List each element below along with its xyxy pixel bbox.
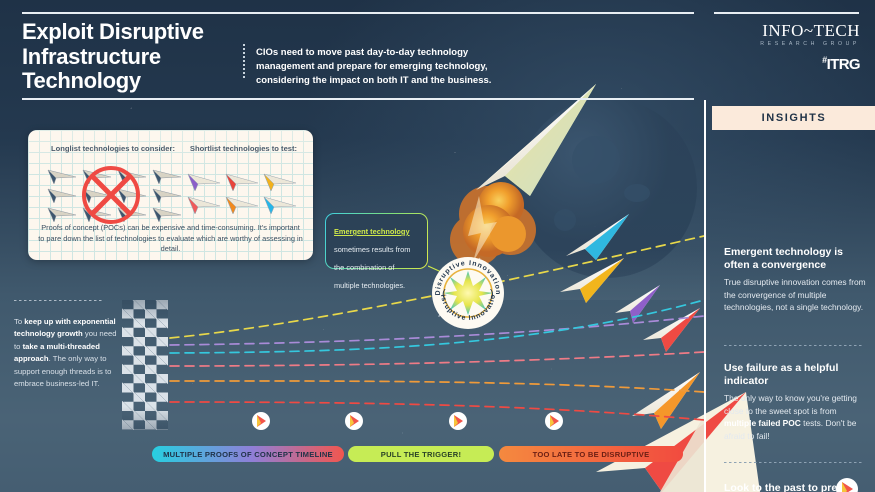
insight-heading: Use failure as a helpful indicator (724, 362, 866, 388)
logo-itrg-text: ITRG (827, 56, 860, 73)
insight-card-failure: Use failure as a helpful indicator The o… (724, 362, 866, 443)
logo-tagline: RESEARCH GROUP (714, 41, 860, 47)
logo-itrg: #ITRG (714, 55, 860, 73)
timeline-marker[interactable] (252, 412, 270, 430)
badge-bracket-right: ) (490, 288, 494, 300)
infographic-canvas: Exploit Disruptive Infrastructure Techno… (0, 0, 875, 492)
logo-wordmark: INFO~TECH (714, 22, 860, 39)
shortlist-heading: Shortlist technologies to test: (186, 144, 301, 154)
insight-card-convergence: Emergent technology is often a convergen… (724, 246, 866, 314)
insight-body-bold: multiple failed POC (724, 418, 801, 428)
insights-tab-label: INSIGHTS (762, 112, 827, 124)
insight-body-part-1: The only way to know you're getting clos… (724, 393, 857, 416)
left-note-part-1: To (14, 317, 24, 326)
shortlist-plane-grid (186, 172, 306, 218)
insight-heading: Emergent technology is often a convergen… (724, 246, 866, 272)
badge-bracket-left: ( (442, 288, 446, 300)
timeline-bar-too-late[interactable]: TOO LATE TO BE DISRUPTIVE (499, 446, 683, 462)
insight-divider (724, 462, 864, 463)
left-note-text: To keep up with exponential technology g… (14, 316, 118, 391)
paper-plane-orange (632, 372, 700, 429)
play-plane-icon (836, 478, 858, 492)
header-top-rule (22, 12, 694, 14)
left-note-divider (14, 300, 102, 301)
emergent-technology-callout: Emergent technology sometimes results fr… (325, 213, 428, 269)
timeline-bar-poc[interactable]: MULTIPLE PROOFS OF CONCEPT TIMELINE (152, 446, 344, 462)
timeline-marker[interactable] (345, 412, 363, 430)
poc-caption: Proofs of concept (POCs) can be expensiv… (38, 223, 303, 255)
insight-body: The only way to know you're getting clos… (724, 392, 866, 442)
longlist-heading: Longlist technologies to consider: (48, 144, 178, 154)
play-plane-icon (545, 412, 563, 430)
insight-divider (724, 345, 864, 346)
callout-body: sometimes results from the combination o… (334, 245, 410, 290)
insights-panel: INSIGHTS Emergent technology is often a … (704, 100, 875, 492)
timeline-bar-label: MULTIPLE PROOFS OF CONCEPT TIMELINE (163, 450, 333, 459)
checkered-flag-icon (122, 300, 168, 430)
timeline-bar-trigger[interactable]: PULL THE TRIGGER! (348, 446, 494, 462)
poc-note-panel: Longlist technologies to consider: Short… (28, 130, 313, 260)
timeline-marker[interactable] (449, 412, 467, 430)
brand-logo: INFO~TECH RESEARCH GROUP #ITRG (714, 22, 860, 73)
longlist-plane-grid (46, 168, 186, 224)
timeline-bar-label: PULL THE TRIGGER! (381, 450, 461, 459)
play-plane-icon (449, 412, 467, 430)
header-divider (243, 44, 245, 80)
disruptive-innovation-badge: Disruptive Innovation Disruptive Innovat… (430, 255, 506, 331)
insight-body: True disruptive innovation comes from th… (724, 276, 866, 314)
logo-top-rule (714, 12, 859, 14)
insight-play-plane-icon (836, 478, 858, 492)
callout-title: Emergent technology (334, 227, 410, 236)
timeline-marker[interactable] (545, 412, 563, 430)
timeline-bar-label: TOO LATE TO BE DISRUPTIVE (533, 450, 650, 459)
rejected-mark-icon (80, 164, 142, 226)
play-plane-icon (252, 412, 270, 430)
play-plane-icon (345, 412, 363, 430)
header-subhead: CIOs need to move past day-to-day techno… (256, 46, 526, 88)
page-title: Exploit Disruptive Infrastructure Techno… (22, 20, 252, 94)
insights-tab: INSIGHTS (712, 106, 875, 130)
header-bottom-rule (22, 98, 694, 100)
paper-plane-red (643, 308, 700, 352)
